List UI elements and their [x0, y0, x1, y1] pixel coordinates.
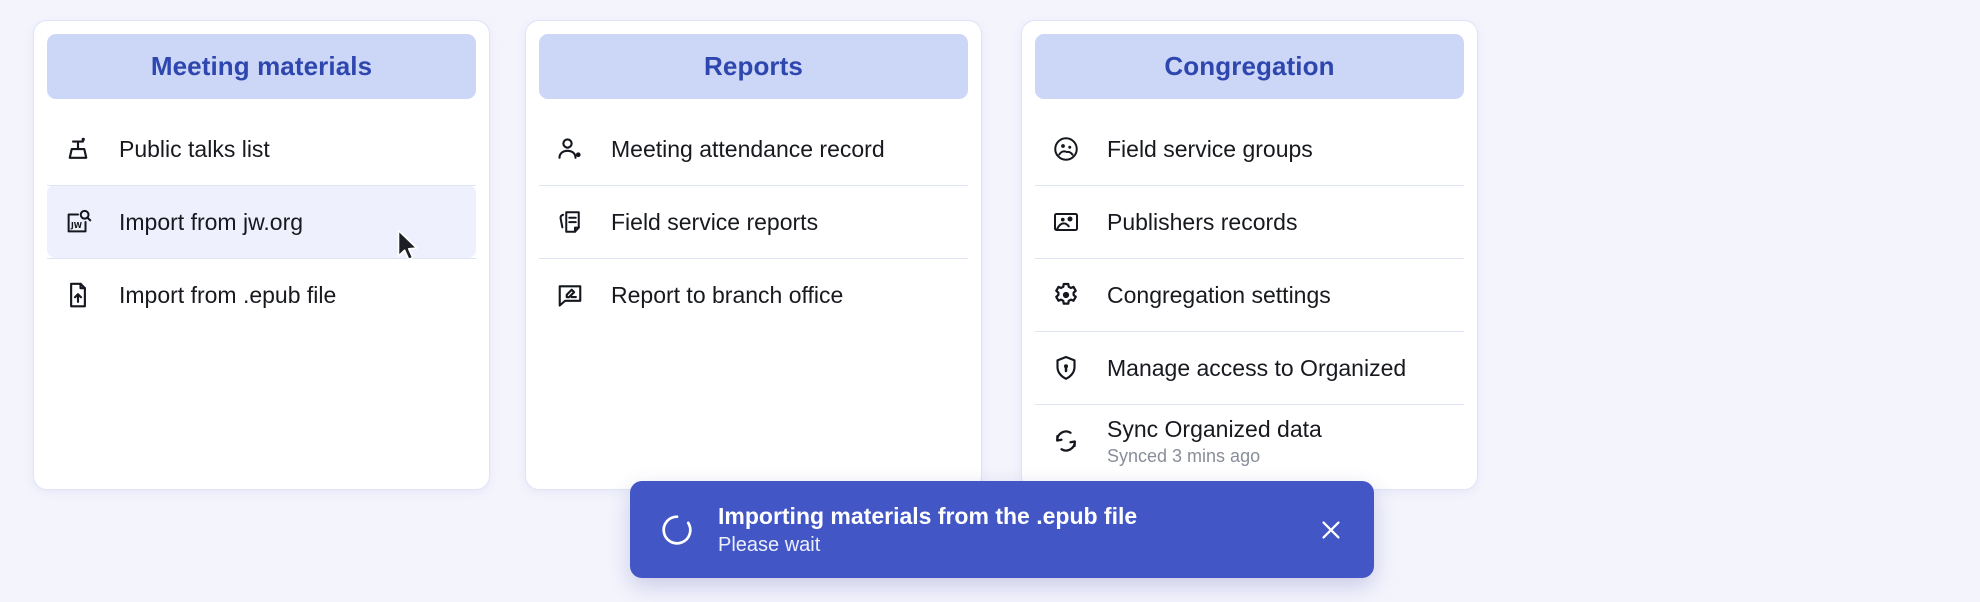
- list-item-label: Public talks list: [119, 134, 270, 164]
- group-avatar-icon: [1049, 132, 1083, 166]
- list-item-label: Congregation settings: [1107, 280, 1331, 310]
- shield-lock-icon: [1049, 351, 1083, 385]
- list-item-label: Meeting attendance record: [611, 134, 885, 164]
- svg-text:JW: JW: [70, 220, 83, 229]
- gear-icon: [1049, 278, 1083, 312]
- card-header-congregation: Congregation: [1035, 34, 1464, 99]
- list-item-text: Publishers records: [1107, 207, 1297, 237]
- list-item-text: Report to branch office: [611, 280, 843, 310]
- people-icon: [553, 132, 587, 166]
- list-item-label: Manage access to Organized: [1107, 353, 1406, 383]
- list-item-text: Field service reports: [611, 207, 818, 237]
- list-item-label: Sync Organized data: [1107, 414, 1322, 444]
- toast-title: Importing materials from the .epub file: [718, 501, 1294, 531]
- list-item-label: Report to branch office: [611, 280, 843, 310]
- card-header-meeting-materials: Meeting materials: [47, 34, 476, 99]
- list-item-label: Publishers records: [1107, 207, 1297, 237]
- close-icon[interactable]: [1314, 513, 1348, 547]
- list-item-text: Import from .epub file: [119, 280, 336, 310]
- list-item-congregation-settings[interactable]: Congregation settings: [1035, 258, 1464, 331]
- list-item-sync-organized-data[interactable]: Sync Organized data Synced 3 mins ago: [1035, 404, 1464, 477]
- list-item-text: Manage access to Organized: [1107, 353, 1406, 383]
- list-item-manage-access-to-organized[interactable]: Manage access to Organized: [1035, 331, 1464, 404]
- toast-importing-materials: Importing materials from the .epub file …: [630, 481, 1374, 578]
- documents-stack-icon: [553, 205, 587, 239]
- card-list-congregation: Field service groups Publishers records: [1035, 112, 1464, 489]
- file-upload-icon: [61, 278, 95, 312]
- list-item-label: Field service groups: [1107, 134, 1313, 164]
- loading-spinner-icon: [658, 511, 696, 549]
- toast-subtitle: Please wait: [718, 531, 1294, 559]
- list-item-publishers-records[interactable]: Publishers records: [1035, 185, 1464, 258]
- list-item-meeting-attendance-record[interactable]: Meeting attendance record: [539, 112, 968, 185]
- card-congregation: Congregation Field service groups: [1021, 20, 1478, 490]
- lectern-icon: [61, 132, 95, 166]
- jw-search-icon: JW: [61, 205, 95, 239]
- card-meeting-materials: Meeting materials Public talks list: [33, 20, 490, 490]
- list-item-field-service-groups[interactable]: Field service groups: [1035, 112, 1464, 185]
- list-item-label: Import from .epub file: [119, 280, 336, 310]
- id-card-icon: [1049, 205, 1083, 239]
- list-item-text: Import from jw.org: [119, 207, 303, 237]
- card-title: Meeting materials: [151, 51, 372, 82]
- card-header-reports: Reports: [539, 34, 968, 99]
- message-edit-icon: [553, 278, 587, 312]
- sync-icon: [1049, 424, 1083, 458]
- list-item-label: Import from jw.org: [119, 207, 303, 237]
- card-reports: Reports Meeting attendance record: [525, 20, 982, 490]
- list-item-sublabel: Synced 3 mins ago: [1107, 444, 1322, 468]
- list-item-text: Sync Organized data Synced 3 mins ago: [1107, 414, 1322, 468]
- card-title: Congregation: [1164, 51, 1334, 82]
- toast-body: Importing materials from the .epub file …: [718, 501, 1294, 559]
- list-item-import-from-epub-file[interactable]: Import from .epub file: [47, 258, 476, 331]
- list-item-import-from-jw-org[interactable]: JW Import from jw.org: [47, 185, 476, 258]
- list-item-text: Public talks list: [119, 134, 270, 164]
- list-item-label: Field service reports: [611, 207, 818, 237]
- card-list-meeting-materials: Public talks list JW Import from jw.org: [47, 112, 476, 489]
- list-item-text: Congregation settings: [1107, 280, 1331, 310]
- card-list-reports: Meeting attendance record Field service …: [539, 112, 968, 489]
- card-title: Reports: [704, 51, 803, 82]
- list-item-field-service-reports[interactable]: Field service reports: [539, 185, 968, 258]
- list-item-text: Field service groups: [1107, 134, 1313, 164]
- dashboard-board: Meeting materials Public talks list: [0, 0, 1980, 602]
- list-item-text: Meeting attendance record: [611, 134, 885, 164]
- list-item-public-talks-list[interactable]: Public talks list: [47, 112, 476, 185]
- list-item-report-to-branch-office[interactable]: Report to branch office: [539, 258, 968, 331]
